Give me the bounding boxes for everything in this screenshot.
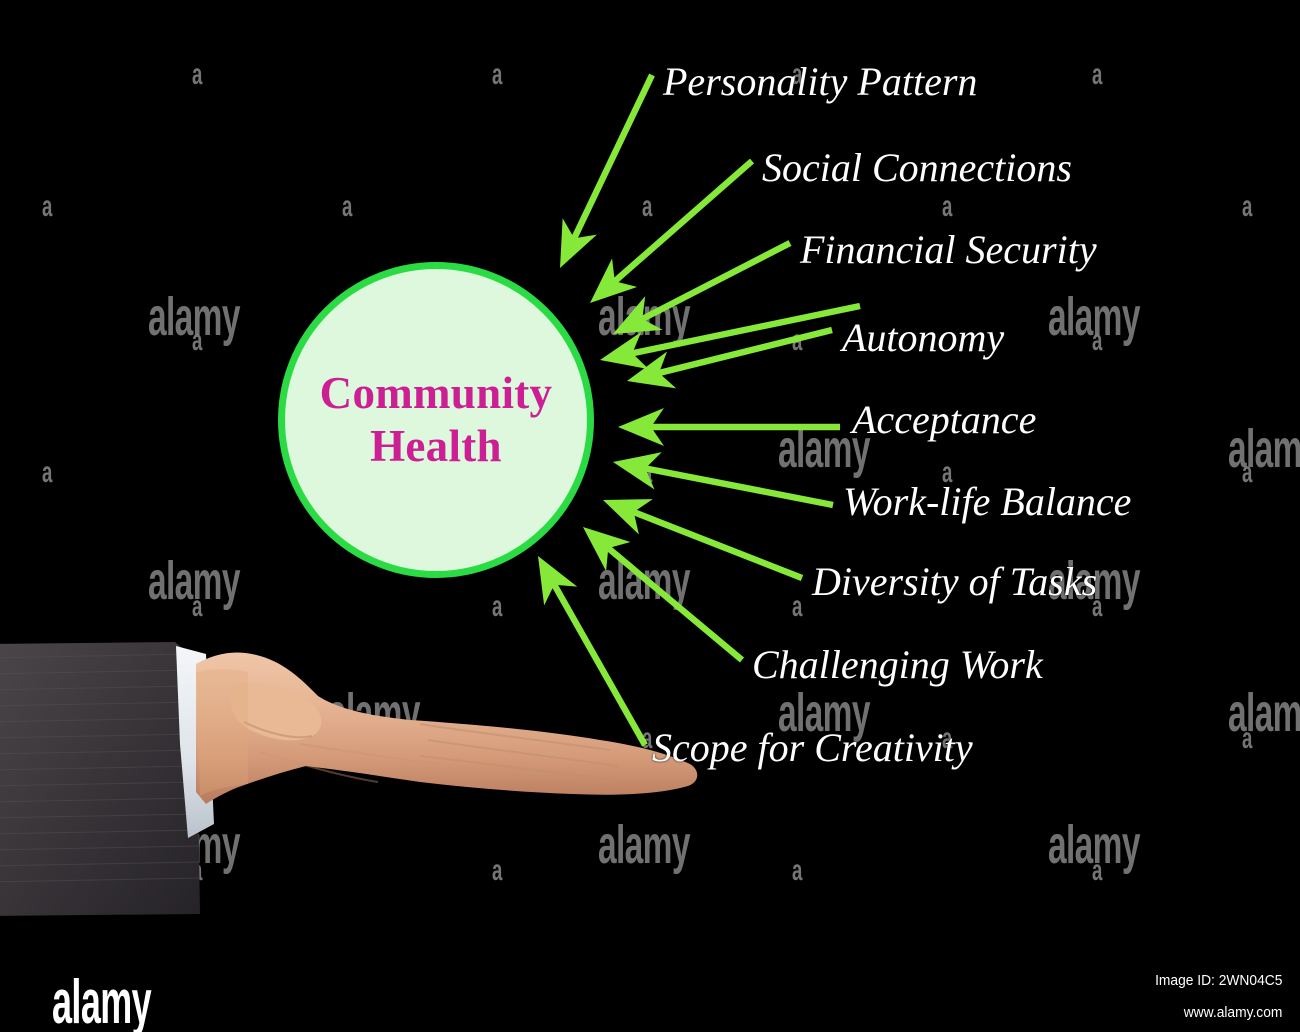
node-label-6: Diversity of Tasks <box>812 562 1097 602</box>
arrow-to-center-4 <box>618 408 840 446</box>
footer-meta: Image ID: 2WN04C5 www.alamy.com <box>1144 973 1282 1020</box>
node-label-8: Scope for Creativity <box>652 728 973 768</box>
node-label-7: Challenging Work <box>752 645 1043 685</box>
node-label-2: Financial Security <box>800 230 1097 270</box>
image-id-text: Image ID: 2WN04C5 <box>1155 973 1282 988</box>
central-node-label: Community Health <box>320 367 553 472</box>
node-label-0: Personality Pattern <box>663 62 977 102</box>
node-label-1: Social Connections <box>762 148 1072 188</box>
arrow-to-center-8 <box>538 556 648 747</box>
central-node-circle: Community Health <box>278 262 594 578</box>
alamy-logo: alamy <box>52 972 151 1032</box>
diagram-canvas: aaaaaaaaaaaaaaaaaaaaaaaaaaaaaaalamyalamy… <box>0 0 1300 1032</box>
node-label-3: Autonomy <box>842 318 1004 358</box>
node-label-4: Acceptance <box>852 400 1036 440</box>
arrow-to-center-1 <box>590 159 754 303</box>
node-label-5: Work-life Balance <box>843 482 1131 522</box>
arrow-to-center-0 <box>560 74 655 268</box>
arrow-to-center-2 <box>613 240 791 334</box>
alamy-footer-bar: alamy Image ID: 2WN04C5 www.alamy.com <box>0 960 1300 1032</box>
alamy-website-link[interactable]: www.alamy.com <box>1155 1005 1282 1020</box>
